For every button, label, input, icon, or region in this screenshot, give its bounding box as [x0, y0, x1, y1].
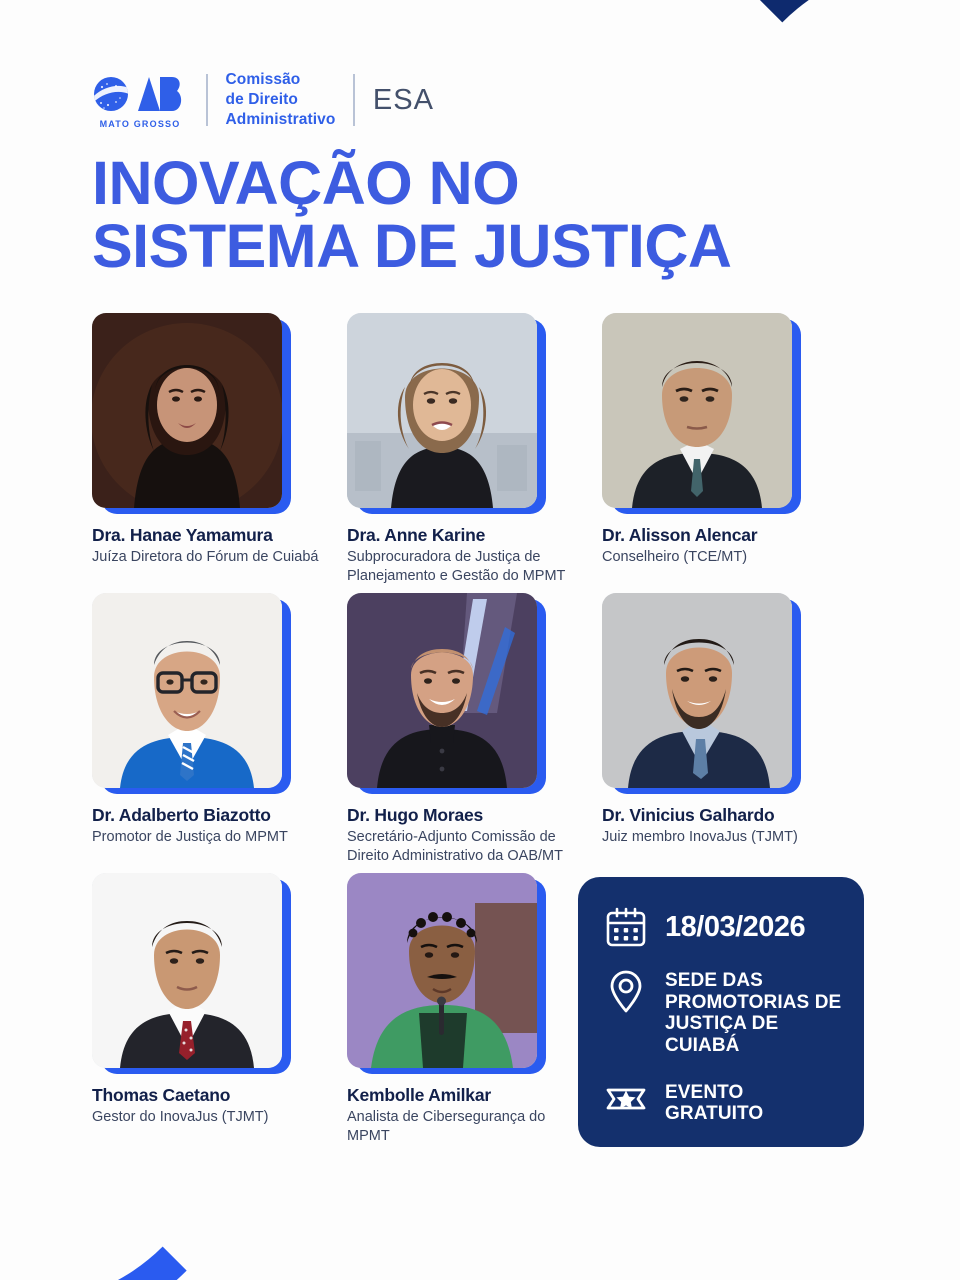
- logo-divider-2: [353, 74, 355, 126]
- speaker-name: Dra. Anne Karine: [347, 525, 579, 545]
- speaker-card: Dra. Anne Karine Subprocuradora de Justi…: [347, 313, 579, 593]
- speaker-role: Secretário-Adjunto Comissão de Direito A…: [347, 828, 579, 866]
- speaker-photo-wrapper: [347, 313, 537, 508]
- speaker-photo-wrapper: [92, 593, 282, 788]
- oab-state-label: MATO GROSSO: [100, 119, 181, 129]
- event-date: 18/03/2026: [665, 905, 805, 949]
- speaker-card: Dr. Adalberto Biazotto Promotor de Justi…: [92, 593, 324, 873]
- speaker-photo-wrapper: [602, 313, 792, 508]
- commission-line-1: Comissão: [226, 71, 301, 88]
- title-line-2: SISTEMA DE JUSTIÇA: [92, 215, 792, 278]
- speaker-name: Dr. Adalberto Biazotto: [92, 805, 324, 825]
- speaker-photo-wrapper: [602, 593, 792, 788]
- commission-label: Comissão de Direito Administrativo: [226, 70, 336, 129]
- event-info-card: 18/03/2026 SEDE DAS PROMOTORIAS DE JUSTI…: [578, 877, 864, 1147]
- speaker-name: Dra. Hanae Yamamura: [92, 525, 324, 545]
- commission-line-3: Administrativo: [226, 111, 336, 128]
- speaker-name: Dr. Hugo Moraes: [347, 805, 579, 825]
- event-price: EVENTO GRATUITO: [665, 1077, 842, 1125]
- speaker-photo-wrapper: [92, 873, 282, 1068]
- speaker-name: Kembolle Amilkar: [347, 1085, 579, 1105]
- event-price-row: EVENTO GRATUITO: [604, 1077, 842, 1125]
- calendar-icon: [604, 905, 648, 949]
- portrait-vinicius-galhardo: [602, 593, 792, 788]
- event-location-row: SEDE DAS PROMOTORIAS DE JUSTIÇA DE CUIAB…: [604, 969, 842, 1057]
- portrait-anne-karine: [347, 313, 537, 508]
- speaker-role: Analista de Cibersegurança do MPMT: [347, 1108, 579, 1146]
- logo-bar: MATO GROSSO Comissão de Direito Administ…: [92, 68, 434, 132]
- speaker-name: Dr. Alisson Alencar: [602, 525, 834, 545]
- esa-logo-label: ESA: [373, 84, 434, 117]
- event-location: SEDE DAS PROMOTORIAS DE JUSTIÇA DE CUIAB…: [665, 969, 842, 1057]
- speaker-card: Dra. Hanae Yamamura Juíza Diretora do Fó…: [92, 313, 324, 593]
- portrait-alisson-alencar: [602, 313, 792, 508]
- speaker-card: Kembolle Amilkar Analista de Cibersegura…: [347, 873, 579, 1153]
- speaker-photo-wrapper: [347, 873, 537, 1068]
- speaker-card: Dr. Hugo Moraes Secretário-Adjunto Comis…: [347, 593, 579, 873]
- map-pin-icon: [604, 969, 648, 1013]
- speaker-role: Promotor de Justiça do MPMT: [92, 828, 324, 847]
- speaker-role: Juíza Diretora do Fórum de Cuiabá: [92, 548, 324, 567]
- speaker-card: Thomas Caetano Gestor do InovaJus (TJMT): [92, 873, 324, 1153]
- title-line-1: INOVAÇÃO NO: [92, 152, 792, 215]
- portrait-hugo-moraes: [347, 593, 537, 788]
- speaker-name: Dr. Vinicius Galhardo: [602, 805, 834, 825]
- speaker-card: Dr. Vinicius Galhardo Juiz membro InovaJ…: [602, 593, 834, 873]
- speaker-card: Dr. Alisson Alencar Conselheiro (TCE/MT): [602, 313, 834, 593]
- speaker-role: Conselheiro (TCE/MT): [602, 548, 834, 567]
- portrait-hanae-yamamura: [92, 313, 282, 508]
- portrait-kembolle-amilkar: [347, 873, 537, 1068]
- speaker-photo-wrapper: [92, 313, 282, 508]
- oab-logo-mark: [92, 72, 188, 116]
- speaker-role: Subprocuradora de Justiça de Planejament…: [347, 548, 579, 586]
- event-poster: MATO GROSSO Comissão de Direito Administ…: [0, 0, 960, 1280]
- logo-divider-1: [206, 74, 208, 126]
- commission-line-2: de Direito: [226, 91, 298, 108]
- speaker-role: Gestor do InovaJus (TJMT): [92, 1108, 324, 1127]
- event-date-row: 18/03/2026: [604, 905, 842, 949]
- portrait-thomas-caetano: [92, 873, 282, 1068]
- oab-logo: MATO GROSSO: [92, 72, 188, 129]
- portrait-adalberto-biazotto: [92, 593, 282, 788]
- speaker-role: Juiz membro InovaJus (TJMT): [602, 828, 834, 847]
- ticket-icon: [604, 1077, 648, 1121]
- page-title: INOVAÇÃO NO SISTEMA DE JUSTIÇA: [92, 152, 792, 279]
- speaker-name: Thomas Caetano: [92, 1085, 324, 1105]
- speaker-photo-wrapper: [347, 593, 537, 788]
